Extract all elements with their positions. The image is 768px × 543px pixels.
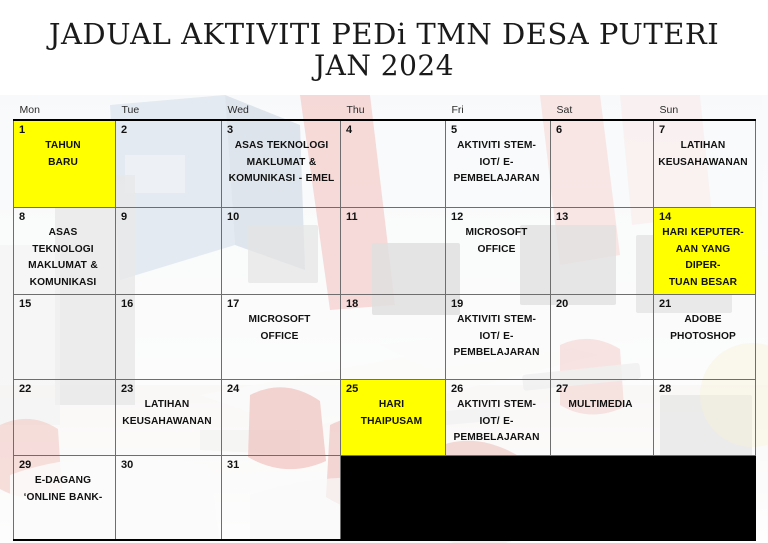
calendar-day-cell[interactable]: 28: [654, 380, 756, 456]
day-number: 24: [227, 383, 239, 395]
calendar-day-cell[interactable]: 9: [116, 208, 222, 295]
calendar-day-cell[interactable]: 4: [341, 120, 446, 208]
day-number: 15: [19, 298, 31, 310]
day-number: 27: [556, 383, 568, 395]
calendar-day-cell[interactable]: 23LATIHANKEUSAHAWANAN: [116, 380, 222, 456]
calendar-day-cell[interactable]: 3ASAS TEKNOLOGIMAKLUMAT &KOMUNIKASI - EM…: [222, 120, 341, 208]
calendar-week-row: 8ASAS TEKNOLOGIMAKLUMAT &KOMUNIKASI91011…: [14, 208, 756, 295]
day-number: 30: [121, 459, 133, 471]
day-number: 11: [346, 211, 358, 223]
weekday-header-sat: Sat: [551, 95, 654, 120]
weekday-header-wed: Wed: [222, 95, 341, 120]
weekday-header-row: Mon Tue Wed Thu Fri Sat Sun: [14, 95, 756, 120]
day-number: 1: [19, 124, 25, 136]
day-number: 25: [346, 383, 358, 395]
day-number: 9: [121, 211, 127, 223]
calendar-day-cell[interactable]: 12MICROSOFTOFFICE: [446, 208, 551, 295]
day-number: 13: [556, 211, 568, 223]
calendar-cell-blank: [446, 456, 551, 541]
day-number: 7: [659, 124, 665, 136]
weekday-header-thu: Thu: [341, 95, 446, 120]
day-event-label: LATIHANKEUSAHAWANAN: [654, 121, 755, 174]
day-number: 31: [227, 459, 239, 471]
calendar-day-cell[interactable]: 17MICROSOFTOFFICE: [222, 295, 341, 380]
day-number: 12: [451, 211, 463, 223]
day-event-label: TAHUNBARU: [14, 121, 115, 174]
calendar-day-cell[interactable]: 5AKTIVITI STEM-IOT/ E-PEMBELAJARAN: [446, 120, 551, 208]
page-title: JADUAL AKTIVITI PEDi TMN DESA PUTERI JAN…: [0, 0, 768, 82]
title-line-2: JAN 2024: [0, 50, 768, 81]
day-number: 10: [227, 211, 239, 223]
calendar-day-cell[interactable]: 7LATIHANKEUSAHAWANAN: [654, 120, 756, 208]
calendar-day-cell[interactable]: 24: [222, 380, 341, 456]
day-number: 21: [659, 298, 671, 310]
day-number: 16: [121, 298, 133, 310]
calendar-week-row: 29E-DAGANG‘ONLINE BANK-3031: [14, 456, 756, 541]
day-number: 14: [659, 211, 671, 223]
day-event-label: AKTIVITI STEM-IOT/ E-PEMBELAJARAN: [446, 121, 550, 191]
calendar-day-cell[interactable]: 18: [341, 295, 446, 380]
calendar-day-cell[interactable]: 20: [551, 295, 654, 380]
calendar-day-cell[interactable]: 13: [551, 208, 654, 295]
day-number: 29: [19, 459, 31, 471]
day-number: 8: [19, 211, 25, 223]
calendar-day-cell[interactable]: 8ASAS TEKNOLOGIMAKLUMAT &KOMUNIKASI: [14, 208, 116, 295]
calendar-day-cell[interactable]: 25HARITHAIPUSAM: [341, 380, 446, 456]
calendar-day-cell[interactable]: 21ADOBEPHOTOSHOP: [654, 295, 756, 380]
calendar-day-cell[interactable]: 2: [116, 120, 222, 208]
day-event-label: ASAS TEKNOLOGIMAKLUMAT &KOMUNIKASI: [14, 208, 115, 294]
calendar-day-cell[interactable]: 19AKTIVITI STEM-IOT/ E-PEMBELAJARAN: [446, 295, 551, 380]
day-number: 4: [346, 124, 352, 136]
calendar-cell-blank: [551, 456, 654, 541]
calendar-cell-blank: [341, 456, 446, 541]
calendar-day-cell[interactable]: 27MULTIMEDIA: [551, 380, 654, 456]
day-number: 2: [121, 124, 127, 136]
day-number: 5: [451, 124, 457, 136]
calendar-cell-blank: [654, 456, 756, 541]
day-number: 18: [346, 298, 358, 310]
weekday-header-mon: Mon: [14, 95, 116, 120]
weekday-header-sun: Sun: [654, 95, 756, 120]
calendar-body: 1TAHUNBARU23ASAS TEKNOLOGIMAKLUMAT &KOMU…: [14, 120, 756, 540]
day-number: 23: [121, 383, 133, 395]
calendar-week-row: 2223LATIHANKEUSAHAWANAN2425HARITHAIPUSAM…: [14, 380, 756, 456]
weekday-header-fri: Fri: [446, 95, 551, 120]
calendar-day-cell[interactable]: 11: [341, 208, 446, 295]
day-number: 19: [451, 298, 463, 310]
day-number: 6: [556, 124, 562, 136]
calendar-week-row: 1TAHUNBARU23ASAS TEKNOLOGIMAKLUMAT &KOMU…: [14, 120, 756, 208]
title-line-1: JADUAL AKTIVITI PEDi TMN DESA PUTERI: [0, 18, 768, 50]
calendar-day-cell[interactable]: 10: [222, 208, 341, 295]
calendar-day-cell[interactable]: 31: [222, 456, 341, 541]
day-number: 26: [451, 383, 463, 395]
calendar-day-cell[interactable]: 29E-DAGANG‘ONLINE BANK-: [14, 456, 116, 541]
calendar-day-cell[interactable]: 15: [14, 295, 116, 380]
day-event-label: MICROSOFTOFFICE: [222, 295, 340, 348]
calendar-day-cell[interactable]: 6: [551, 120, 654, 208]
calendar-day-cell[interactable]: 14HARI KEPUTER-AAN YANG DIPER-TUAN BESAR: [654, 208, 756, 295]
day-event-label: ASAS TEKNOLOGIMAKLUMAT &KOMUNIKASI - EME…: [222, 121, 340, 191]
day-number: 28: [659, 383, 671, 395]
calendar-day-cell[interactable]: 1TAHUNBARU: [14, 120, 116, 208]
calendar-table: Mon Tue Wed Thu Fri Sat Sun 1TAHUNBARU23…: [13, 95, 756, 541]
day-number: 17: [227, 298, 239, 310]
day-number: 20: [556, 298, 568, 310]
day-number: 22: [19, 383, 31, 395]
calendar-day-cell[interactable]: 16: [116, 295, 222, 380]
day-number: 3: [227, 124, 233, 136]
weekday-header-tue: Tue: [116, 95, 222, 120]
calendar-day-cell[interactable]: 22: [14, 380, 116, 456]
calendar-day-cell[interactable]: 26AKTIVITI STEM-IOT/ E-PEMBELAJARAN: [446, 380, 551, 456]
calendar-day-cell[interactable]: 30: [116, 456, 222, 541]
calendar-week-row: 151617MICROSOFTOFFICE1819AKTIVITI STEM-I…: [14, 295, 756, 380]
